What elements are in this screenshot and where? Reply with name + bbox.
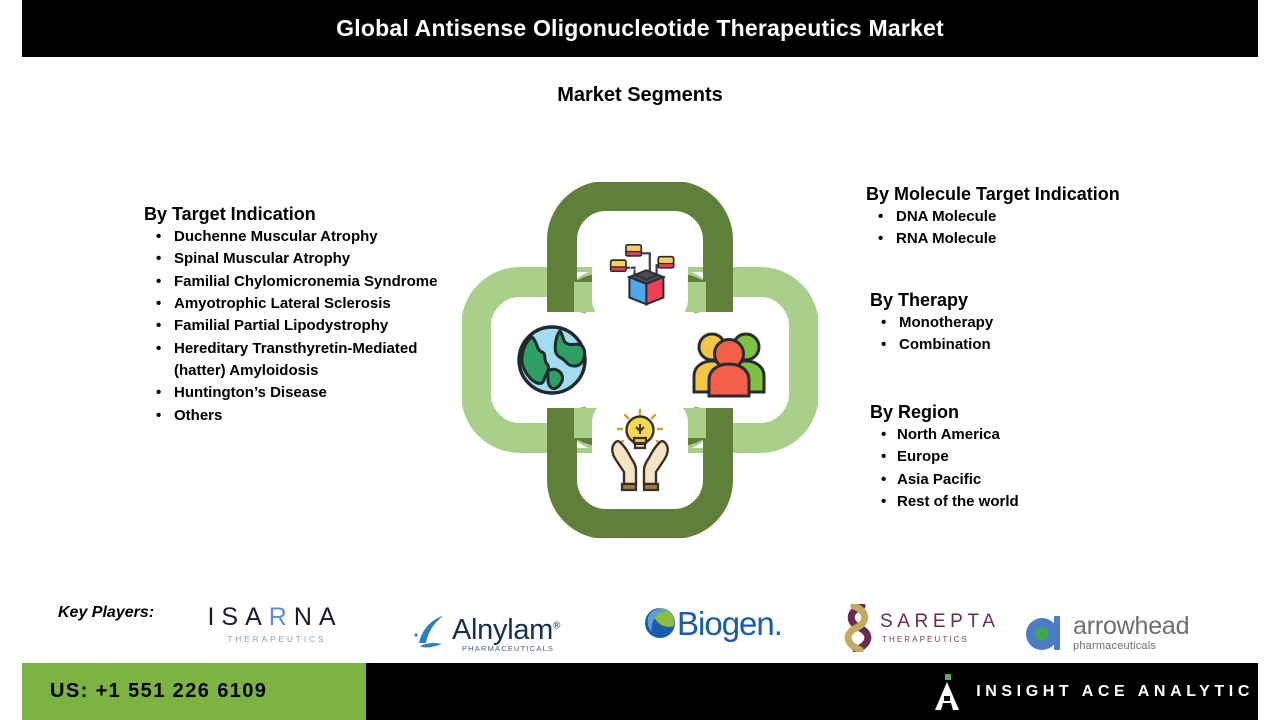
segment-molecule-target-indication: By Molecule Target Indication •DNA Molec… [866, 184, 1226, 251]
icon-panel-left [504, 312, 600, 408]
arrowhead-tagline: pharmaceuticals [1073, 640, 1189, 652]
list-item-label: Combination [899, 336, 991, 353]
list-item-label: North America [897, 426, 1000, 443]
insight-ace-analytic-logo [932, 672, 962, 712]
list-item: •North America [866, 424, 1226, 446]
icon-panel-top [592, 226, 688, 322]
list-item: •Spinal Muscular Atrophy [144, 248, 464, 270]
sarepta-name: SAREPTA [880, 612, 999, 633]
bullet-icon: • [156, 405, 161, 427]
list-item-label: Duchenne Muscular Atrophy [174, 228, 378, 245]
list-item-label: Europe [897, 448, 949, 465]
list-item-label: Huntington’s Disease [174, 384, 327, 401]
list-item: •Familial Chylomicronemia Syndrome [144, 271, 464, 293]
bullet-icon: • [156, 248, 161, 270]
bullet-icon: • [156, 293, 161, 315]
list-item: •Monotherapy [866, 312, 1226, 334]
subtitle-market-segments: Market Segments [0, 84, 1280, 107]
sarepta-tagline: THERAPEUTICS [882, 635, 999, 644]
icon-panel-right [680, 312, 776, 408]
bullet-icon: • [156, 382, 161, 404]
alnylam-name: Alnylam [452, 614, 553, 646]
interlocking-links-graphic [462, 182, 818, 538]
header-bar: Global Antisense Oligonucleotide Therape… [22, 0, 1258, 57]
list-item: •Rest of the world [866, 491, 1226, 513]
list-item: •Combination [866, 334, 1226, 356]
globe-icon [519, 327, 585, 393]
segment-region: By Region •North America •Europe •Asia P… [866, 402, 1226, 513]
bullet-icon: • [878, 228, 883, 250]
logo-arrowhead: arrowhead pharmaceuticals [1023, 612, 1189, 654]
bullet-icon: • [881, 424, 886, 446]
list-item: •RNA Molecule [866, 228, 1226, 250]
alnylam-trademark: ® [553, 620, 560, 631]
list-item-label: Others [174, 407, 222, 424]
bullet-icon: • [156, 271, 161, 293]
segment-target-indication: By Target Indication •Duchenne Muscular … [144, 204, 464, 427]
segment-list: •Monotherapy •Combination [866, 312, 1226, 357]
list-item: •Familial Partial Lipodystrophy [144, 315, 464, 337]
list-item-label: Spinal Muscular Atrophy [174, 250, 350, 267]
list-item: •Others [144, 405, 464, 427]
list-item: •Huntington’s Disease [144, 382, 464, 404]
segment-heading: By Target Indication [144, 204, 464, 225]
list-item: •Asia Pacific [866, 469, 1226, 491]
segment-heading: By Therapy [866, 290, 1226, 311]
list-item: •Europe [866, 446, 1226, 468]
list-item-label: Familial Partial Lipodystrophy [174, 317, 388, 334]
segment-heading: By Region [866, 402, 1226, 423]
sarepta-helix-icon [840, 604, 880, 652]
arrowhead-name: arrowhead [1073, 614, 1189, 639]
segment-list: •DNA Molecule •RNA Molecule [866, 206, 1226, 251]
isarna-r-glyph: R [269, 603, 294, 631]
footer-bar: US: +1 551 226 6109 INSIGHT ACE ANALYTIC [0, 663, 1280, 720]
logo-sarepta: SAREPTA THERAPEUTICS [840, 604, 999, 652]
segment-list: •Duchenne Muscular Atrophy •Spinal Muscu… [144, 226, 464, 427]
page-title: Global Antisense Oligonucleotide Therape… [336, 15, 944, 42]
alnylam-tagline: PHARMACEUTICALS [452, 644, 554, 653]
isarna-name-pre: ISA [207, 603, 268, 631]
alnylam-swoosh-icon [412, 613, 452, 653]
bullet-icon: • [881, 446, 886, 468]
list-item-label: Asia Pacific [897, 471, 981, 488]
isarna-name-post: NA [294, 603, 343, 631]
bullet-icon: • [881, 469, 886, 491]
bullet-icon: • [156, 338, 161, 360]
biogen-name: Biogen. [677, 607, 782, 640]
list-item: •Amyotrophic Lateral Sclerosis [144, 293, 464, 315]
icon-panel-bottom [592, 400, 688, 496]
list-item-label: Familial Chylomicronemia Syndrome [174, 273, 437, 290]
logo-isarna: ISARNA THERAPEUTICS [205, 604, 345, 644]
people-group-icon [694, 334, 764, 396]
logo-alnylam: Alnylam® PHARMACEUTICALS [412, 613, 560, 653]
bullet-icon: • [156, 315, 161, 337]
list-item-label: Amyotrophic Lateral Sclerosis [174, 295, 391, 312]
arrowhead-mark-icon [1023, 612, 1065, 654]
isarna-tagline: THERAPEUTICS [209, 635, 345, 644]
bullet-icon: • [881, 312, 886, 334]
list-item: •Duchenne Muscular Atrophy [144, 226, 464, 248]
list-item-label: Monotherapy [899, 314, 993, 331]
bullet-icon: • [881, 334, 886, 356]
list-item: •Hereditary Transthyretin-Mediated (hatt… [144, 338, 464, 383]
bullet-icon: • [156, 226, 161, 248]
list-item: •DNA Molecule [866, 206, 1226, 228]
footer-phone-number[interactable]: US: +1 551 226 6109 [50, 680, 267, 703]
list-item-label: Rest of the world [897, 493, 1019, 510]
list-item-label: RNA Molecule [896, 230, 996, 247]
biogen-sphere-icon [643, 606, 677, 640]
list-item-label: DNA Molecule [896, 208, 996, 225]
segment-list: •North America •Europe •Asia Pacific •Re… [866, 424, 1226, 513]
segment-therapy: By Therapy •Monotherapy •Combination [866, 290, 1226, 357]
list-item-label: Hereditary Transthyretin-Mediated (hatte… [174, 340, 417, 379]
bullet-icon: • [881, 491, 886, 513]
key-players-label: Key Players: [58, 604, 154, 622]
segment-heading: By Molecule Target Indication [866, 184, 1226, 205]
bullet-icon: • [878, 206, 883, 228]
footer-brand-name: INSIGHT ACE ANALYTIC [976, 683, 1254, 701]
logo-biogen: Biogen. [643, 606, 782, 640]
footer-green-band: US: +1 551 226 6109 [22, 663, 366, 720]
footer-brand: INSIGHT ACE ANALYTIC [932, 663, 1258, 720]
